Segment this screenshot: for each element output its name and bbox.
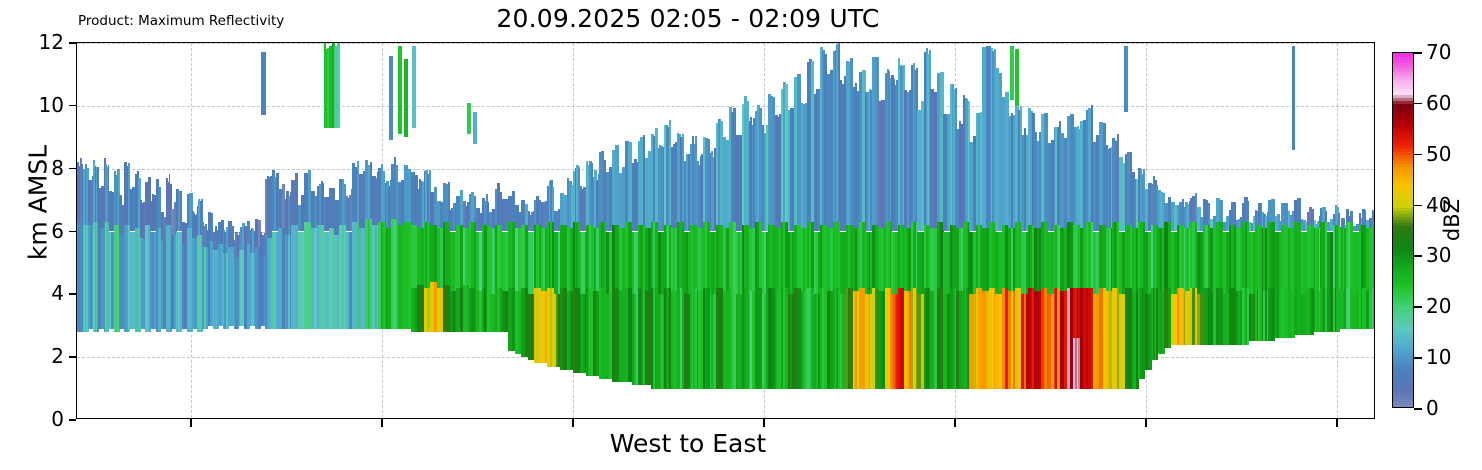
colorbar-tick bbox=[1414, 255, 1422, 257]
colorbar-tick-label: 0 bbox=[1426, 396, 1439, 420]
reflectivity-cell bbox=[1219, 200, 1223, 222]
echo-top-spike bbox=[412, 46, 416, 128]
x-axis-tick bbox=[572, 419, 574, 427]
colorbar-tick bbox=[1414, 103, 1422, 105]
y-axis-tick bbox=[69, 105, 76, 107]
x-axis-tick bbox=[1145, 419, 1147, 427]
y-axis-tick-label: 4 bbox=[51, 281, 64, 305]
colorbar bbox=[1392, 52, 1414, 408]
reflectivity-cell bbox=[1247, 201, 1249, 222]
radar-cross-section-figure: Product: Maximum Reflectivity 20.09.2025… bbox=[0, 0, 1482, 470]
y-axis-label: km AMSL bbox=[24, 73, 53, 333]
y-axis-tick-label: 12 bbox=[39, 30, 64, 54]
x-axis-tick bbox=[190, 419, 192, 427]
colorbar-tick bbox=[1414, 154, 1422, 156]
colorbar-tick bbox=[1414, 306, 1422, 308]
colorbar-tick bbox=[1414, 52, 1422, 54]
echo-top-spike bbox=[1292, 46, 1295, 150]
y-axis-tick bbox=[69, 293, 76, 295]
reflectivity-cell bbox=[337, 43, 340, 128]
echo-top-spike bbox=[1124, 46, 1128, 112]
x-axis-label: West to East bbox=[0, 429, 1376, 458]
colorbar-tick-label: 60 bbox=[1426, 91, 1451, 115]
y-axis-tick bbox=[69, 231, 76, 233]
echo-top-spike bbox=[261, 52, 266, 115]
page-title: 20.09.2025 02:05 - 02:09 UTC bbox=[0, 4, 1376, 33]
x-axis-tick bbox=[763, 419, 765, 427]
colorbar-tick bbox=[1414, 205, 1422, 207]
reflectivity-cell bbox=[1325, 211, 1327, 222]
echo-top-spike bbox=[389, 56, 394, 141]
y-axis-tick-label: 6 bbox=[51, 219, 64, 243]
colorbar-tick bbox=[1414, 357, 1422, 359]
x-axis-tick bbox=[1336, 419, 1338, 427]
plot-clip bbox=[77, 43, 1374, 418]
reflectivity-cell bbox=[1350, 211, 1353, 222]
y-axis-tick-label: 2 bbox=[51, 344, 64, 368]
y-axis-tick bbox=[69, 419, 76, 421]
y-axis-tick bbox=[69, 42, 76, 44]
x-axis-tick bbox=[381, 419, 383, 427]
echo-top-spike bbox=[1015, 49, 1019, 106]
echo-top-spike bbox=[473, 112, 477, 143]
plot-area bbox=[76, 42, 1375, 419]
colorbar-label: dBZ bbox=[1440, 140, 1464, 300]
echo-top-spike bbox=[467, 103, 471, 134]
y-axis-tick-label: 8 bbox=[51, 156, 64, 180]
y-axis-tick bbox=[69, 356, 76, 358]
reflectivity-heatmap bbox=[77, 43, 1374, 418]
x-axis-tick bbox=[954, 419, 956, 427]
colorbar-segment bbox=[1393, 53, 1413, 57]
colorbar-tick-label: 10 bbox=[1426, 345, 1451, 369]
reflectivity-cell bbox=[1338, 213, 1340, 225]
y-axis-tick-label: 0 bbox=[51, 407, 64, 431]
y-axis-tick bbox=[69, 168, 76, 170]
colorbar-tick-label: 70 bbox=[1426, 40, 1451, 64]
echo-top-spike bbox=[1010, 46, 1014, 99]
colorbar-tick bbox=[1414, 408, 1422, 410]
echo-top-spike bbox=[398, 46, 402, 134]
echo-top-spike bbox=[404, 59, 408, 138]
